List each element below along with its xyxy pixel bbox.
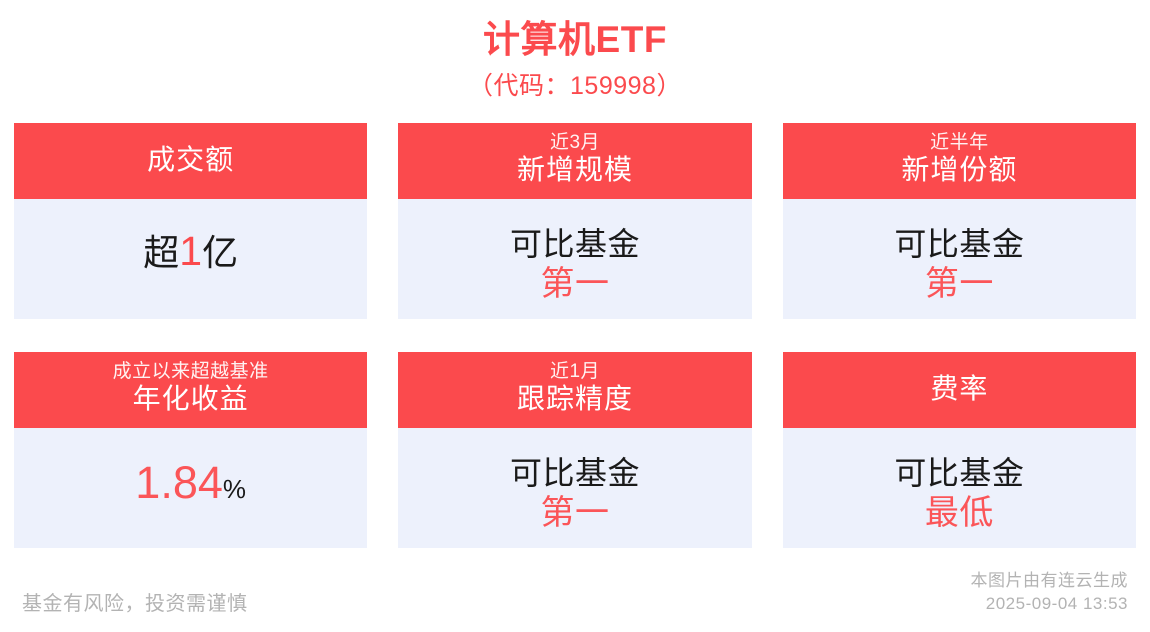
value-prefix: 超 <box>143 235 179 271</box>
page-title: 计算机ETF <box>0 18 1150 62</box>
risk-disclaimer: 基金有风险，投资需谨慎 <box>22 592 248 616</box>
card-header-sub: 近半年 <box>930 132 989 153</box>
card-header-main: 成交额 <box>147 143 234 177</box>
card-body: 可比基金 第一 <box>783 199 1136 319</box>
metric-card-annualized-excess-return: 成立以来超越基准 年化收益 1.84 % <box>14 352 367 548</box>
card-header-main: 新增份额 <box>901 153 1017 187</box>
card-header: 成交额 <box>14 123 367 199</box>
card-body-line1: 可比基金 <box>894 454 1024 493</box>
metric-card-new-shares-6m: 近半年 新增份额 可比基金 第一 <box>783 123 1136 319</box>
card-body-rank: 第一 <box>540 493 609 534</box>
card-body-rank: 最低 <box>925 493 994 534</box>
metric-card-grid: 成交额 超 1 亿 近3月 新增规模 可比基金 第一 近半年 新增份额 可比基金… <box>14 123 1136 548</box>
credit-timestamp: 2025-09-04 13:53 <box>971 593 1129 616</box>
card-header-main: 费率 <box>930 372 988 406</box>
value-number: 1.84 <box>135 460 223 505</box>
value-unit: % <box>223 476 246 502</box>
metric-value: 超 1 亿 <box>143 231 238 272</box>
card-header-sub: 成立以来超越基准 <box>113 361 269 382</box>
metric-card-fee-rate: 费率 可比基金 最低 <box>783 352 1136 548</box>
metric-card-tracking-accuracy-1m: 近1月 跟踪精度 可比基金 第一 <box>398 352 751 548</box>
value-suffix: 亿 <box>202 235 238 271</box>
card-body: 可比基金 第一 <box>398 199 751 319</box>
card-body-line1: 可比基金 <box>894 225 1024 264</box>
card-header-main: 年化收益 <box>133 382 249 416</box>
card-body: 1.84 % <box>14 428 367 548</box>
card-body: 超 1 亿 <box>14 199 367 319</box>
card-header-sub: 近3月 <box>550 132 600 153</box>
credit-block: 本图片由有连云生成 2025-09-04 13:53 <box>971 570 1129 616</box>
card-header: 近1月 跟踪精度 <box>398 352 751 428</box>
card-header: 近半年 新增份额 <box>783 123 1136 199</box>
card-body: 可比基金 第一 <box>398 428 751 548</box>
footer: 基金有风险，投资需谨慎 本图片由有连云生成 2025-09-04 13:53 <box>0 570 1150 616</box>
credit-source: 本图片由有连云生成 <box>971 570 1129 593</box>
value-highlight: 1 <box>179 231 202 272</box>
title-block: 计算机ETF （代码：159998） <box>0 0 1150 101</box>
card-body: 可比基金 最低 <box>783 428 1136 548</box>
card-header-main: 新增规模 <box>517 153 633 187</box>
metric-card-new-scale-3m: 近3月 新增规模 可比基金 第一 <box>398 123 751 319</box>
card-header-sub: 近1月 <box>550 361 600 382</box>
card-body-line1: 可比基金 <box>510 225 640 264</box>
metric-card-turnover: 成交额 超 1 亿 <box>14 123 367 319</box>
metric-value: 1.84 % <box>135 460 246 505</box>
card-header: 近3月 新增规模 <box>398 123 751 199</box>
card-body-line1: 可比基金 <box>510 454 640 493</box>
card-body-rank: 第一 <box>540 264 609 305</box>
fund-code: （代码：159998） <box>0 71 1150 101</box>
card-body-rank: 第一 <box>925 264 994 305</box>
card-header: 费率 <box>783 352 1136 428</box>
card-header: 成立以来超越基准 年化收益 <box>14 352 367 428</box>
card-header-main: 跟踪精度 <box>517 382 633 416</box>
